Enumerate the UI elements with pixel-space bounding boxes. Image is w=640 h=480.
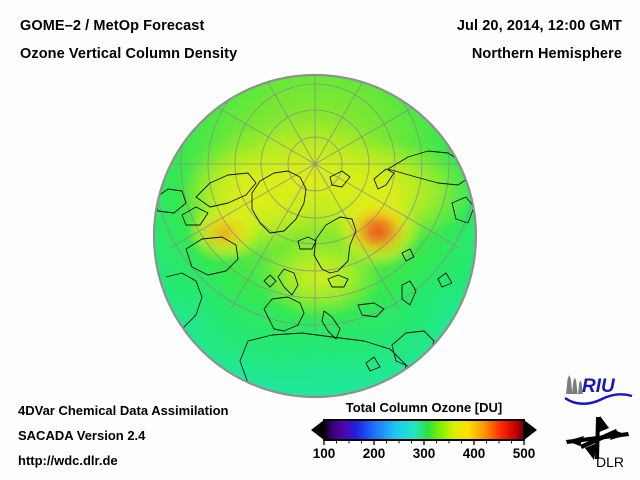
- globe-svg: [152, 73, 478, 399]
- colorbar-extend-left: [311, 420, 324, 440]
- colorbar-svg: [308, 417, 540, 447]
- ozone-globe-map: [152, 73, 478, 399]
- colorbar: Total Column Ozone [DU]: [308, 400, 540, 472]
- riu-logo: RIU: [562, 372, 634, 406]
- colorbar-tick-labels: 100 200 300 400 500: [308, 446, 540, 468]
- colorbar-extend-right: [524, 420, 537, 440]
- source-url-label[interactable]: http://wdc.dlr.de: [18, 453, 118, 468]
- cooling-towers-icon: [566, 375, 583, 394]
- figure-canvas: GOME–2 / MetOp Forecast Ozone Vertical C…: [0, 0, 640, 480]
- dlr-logo-svg: DLR: [564, 412, 636, 470]
- dlr-wordmark: DLR: [596, 454, 624, 470]
- colorbar-tick-label-200: 200: [363, 446, 386, 461]
- dlr-logo: DLR: [564, 412, 636, 470]
- colorbar-gradient: [324, 420, 524, 440]
- hemisphere-label: Northern Hemisphere: [472, 46, 622, 62]
- instrument-title: GOME–2 / MetOp Forecast: [20, 18, 204, 34]
- colorbar-title: Total Column Ozone [DU]: [308, 400, 540, 415]
- colorbar-tick-label-500: 500: [513, 446, 536, 461]
- product-title: Ozone Vertical Column Density: [20, 46, 237, 62]
- colorbar-tick-label-400: 400: [463, 446, 486, 461]
- model-version-label: SACADA Version 2.4: [18, 428, 145, 443]
- colorbar-tick-label-100: 100: [313, 446, 336, 461]
- valid-time-label: Jul 20, 2014, 12:00 GMT: [457, 18, 622, 34]
- riu-wordmark: RIU: [582, 376, 616, 397]
- riu-logo-svg: RIU: [562, 372, 634, 406]
- assimilation-method-label: 4DVar Chemical Data Assimilation: [18, 403, 229, 418]
- colorbar-tick-label-300: 300: [413, 446, 436, 461]
